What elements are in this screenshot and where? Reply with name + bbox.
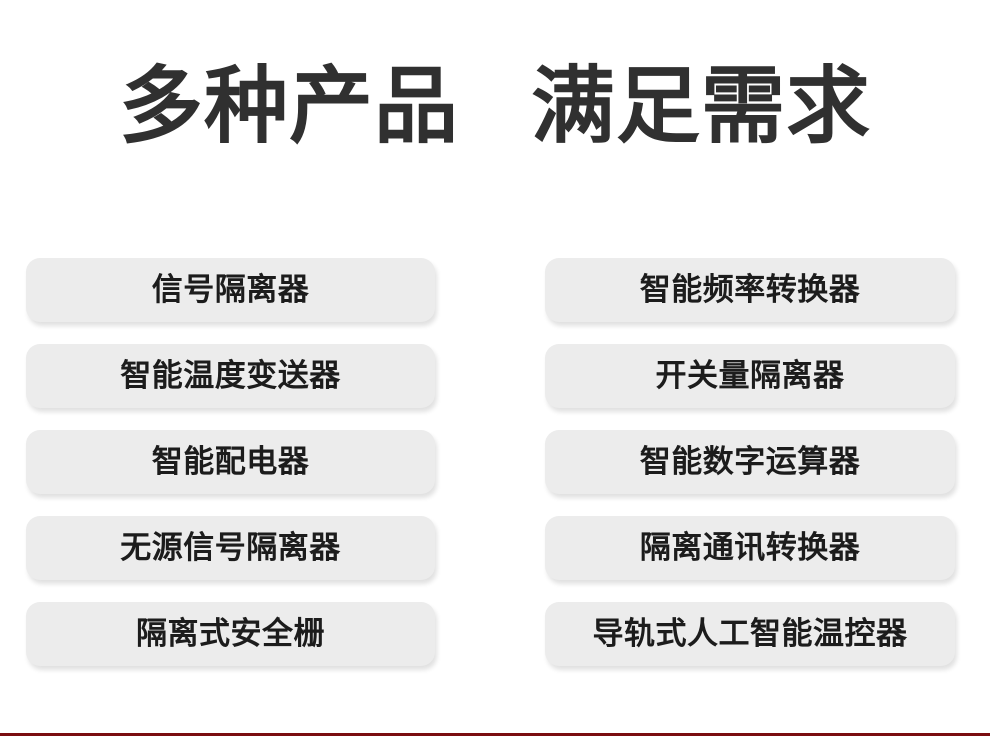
product-card-passive-signal-isolator[interactable]: 无源信号隔离器 bbox=[26, 516, 435, 580]
product-card-smart-power-distributor[interactable]: 智能配电器 bbox=[26, 430, 435, 494]
product-card-isolated-safety-barrier[interactable]: 隔离式安全栅 bbox=[26, 602, 435, 666]
product-card-label: 智能配电器 bbox=[152, 447, 310, 478]
product-card-smart-frequency-converter[interactable]: 智能频率转换器 bbox=[545, 258, 955, 322]
page-title: 多种产品满足需求 bbox=[0, 64, 990, 148]
page-title-phrase-2: 满足需求 bbox=[531, 64, 871, 148]
product-card-label: 智能频率转换器 bbox=[640, 275, 861, 306]
product-card-din-rail-ai-temperature-controller[interactable]: 导轨式人工智能温控器 bbox=[545, 602, 955, 666]
product-card-label: 导轨式人工智能温控器 bbox=[593, 619, 908, 650]
product-column-right: 智能频率转换器 开关量隔离器 智能数字运算器 隔离通讯转换器 导轨式人工智能温控… bbox=[545, 258, 955, 666]
product-card-label: 开关量隔离器 bbox=[656, 361, 845, 392]
product-card-label: 智能数字运算器 bbox=[640, 447, 861, 478]
product-column-left: 信号隔离器 智能温度变送器 智能配电器 无源信号隔离器 隔离式安全栅 bbox=[26, 258, 435, 666]
product-card-grid: 信号隔离器 智能温度变送器 智能配电器 无源信号隔离器 隔离式安全栅 智能频率转… bbox=[0, 258, 990, 666]
product-card-label: 无源信号隔离器 bbox=[120, 533, 341, 564]
product-card-signal-isolator[interactable]: 信号隔离器 bbox=[26, 258, 435, 322]
product-card-label: 隔离式安全栅 bbox=[136, 619, 325, 650]
product-overview-page: 多种产品满足需求 信号隔离器 智能温度变送器 智能配电器 无源信号隔离器 隔离式… bbox=[0, 0, 990, 740]
product-card-switch-quantity-isolator[interactable]: 开关量隔离器 bbox=[545, 344, 955, 408]
product-card-smart-digital-operator[interactable]: 智能数字运算器 bbox=[545, 430, 955, 494]
product-card-smart-temperature-transmitter[interactable]: 智能温度变送器 bbox=[26, 344, 435, 408]
product-card-label: 隔离通讯转换器 bbox=[640, 533, 861, 564]
product-card-isolated-communication-converter[interactable]: 隔离通讯转换器 bbox=[545, 516, 955, 580]
page-title-phrase-1: 多种产品 bbox=[119, 64, 459, 148]
footer-divider bbox=[0, 733, 990, 736]
product-card-label: 信号隔离器 bbox=[152, 275, 310, 306]
product-card-label: 智能温度变送器 bbox=[120, 361, 341, 392]
